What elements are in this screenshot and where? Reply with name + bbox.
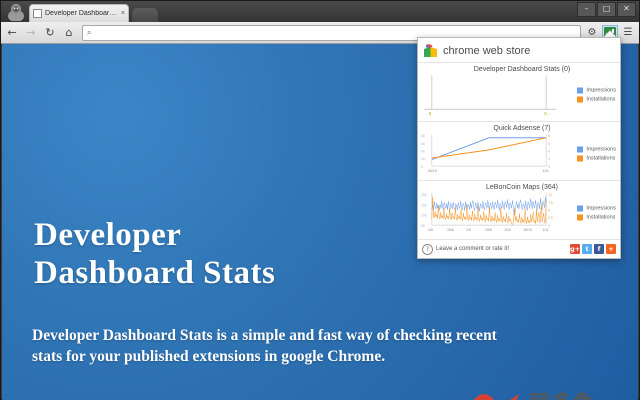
google-plus-icon[interactable]: g+ bbox=[570, 244, 580, 254]
legend-item-impressions: Impressions bbox=[577, 88, 616, 94]
svg-text:0: 0 bbox=[544, 111, 547, 116]
window-minimize-button[interactable]: – bbox=[577, 2, 596, 17]
new-tab-button[interactable] bbox=[132, 8, 158, 22]
window-maximize-button[interactable]: □ bbox=[597, 2, 616, 17]
svg-text:20: 20 bbox=[421, 157, 425, 161]
svg-text:8: 8 bbox=[548, 134, 550, 138]
svg-text:6: 6 bbox=[548, 142, 550, 146]
headline-line-2: Dashboard Stats bbox=[34, 254, 275, 292]
svg-text:1/11: 1/11 bbox=[542, 228, 549, 232]
legend-item-installations: Installations bbox=[577, 215, 616, 221]
tab-title: Developer Dashboard Stats bbox=[45, 10, 119, 17]
svg-text:7.5: 7.5 bbox=[548, 201, 553, 205]
svg-text:10: 10 bbox=[548, 193, 552, 197]
legend-item-impressions: Impressions bbox=[577, 147, 616, 153]
back-icon[interactable]: ← bbox=[4, 25, 20, 41]
legend-label-installations: Installations bbox=[586, 156, 615, 162]
tab-strip: Developer Dashboard Stats × – □ ✕ bbox=[1, 1, 639, 22]
svg-text:80: 80 bbox=[421, 134, 425, 138]
legend-item-impressions: Impressions bbox=[577, 206, 616, 212]
svg-text:1/11: 1/11 bbox=[542, 169, 549, 173]
window-controls: – □ ✕ bbox=[577, 2, 636, 17]
chrome-logo-icon bbox=[5, 2, 27, 21]
chart-body-1: 0 0 Impressions Installations bbox=[420, 73, 618, 117]
rate-text[interactable]: Leave a comment or rate it! bbox=[436, 246, 509, 252]
tab-favicon-icon bbox=[33, 9, 42, 18]
svg-text:1/10: 1/10 bbox=[504, 228, 511, 232]
chart-block-3: LeBonCoin Maps (364) 20015010050107.552.… bbox=[418, 180, 620, 239]
social-buttons: g+ t f + bbox=[570, 244, 616, 254]
svg-text:0: 0 bbox=[421, 165, 423, 169]
page-title: Developer Dashboard Stats bbox=[34, 216, 275, 292]
svg-text:30/10: 30/10 bbox=[428, 169, 437, 173]
search-icon: ⌕ bbox=[87, 28, 91, 38]
chart-plot-3: 20015010050107.552.504/815/81/915/91/101… bbox=[420, 191, 558, 235]
svg-text:60: 60 bbox=[421, 142, 425, 146]
chart-legend-1: Impressions Installations bbox=[577, 88, 616, 103]
screenshot-root: Developer Dashboard Stats × – □ ✕ ← → ↻ … bbox=[0, 0, 640, 400]
twitter-icon[interactable]: t bbox=[582, 244, 592, 254]
svg-text:2.5: 2.5 bbox=[548, 216, 553, 220]
svg-text:15/10: 15/10 bbox=[523, 228, 532, 232]
svg-text:4/8: 4/8 bbox=[428, 228, 433, 232]
chart-body-2: 8060402008642030/101/11 Impressions Inst… bbox=[420, 132, 618, 176]
svg-text:40: 40 bbox=[421, 149, 425, 153]
legend-swatch-impressions bbox=[577, 147, 583, 153]
reload-icon[interactable]: ↻ bbox=[42, 25, 58, 41]
legend-label-installations: Installations bbox=[586, 97, 615, 103]
svg-text:15/8: 15/8 bbox=[447, 228, 454, 232]
svg-text:50: 50 bbox=[421, 224, 425, 228]
legend-swatch-impressions bbox=[577, 88, 583, 94]
legend-item-installations: Installations bbox=[577, 156, 616, 162]
watermark-text: 网多鱼 wduoyu.com bbox=[529, 392, 600, 400]
svg-text:5: 5 bbox=[548, 208, 550, 212]
popup-footer: ? Leave a comment or rate it! g+ t f + bbox=[418, 239, 620, 258]
chart-body-3: 20015010050107.552.504/815/81/915/91/101… bbox=[420, 191, 618, 235]
forward-icon: → bbox=[23, 25, 39, 41]
tab-close-icon[interactable]: × bbox=[121, 10, 125, 17]
legend-label-installations: Installations bbox=[586, 215, 615, 221]
legend-swatch-installations bbox=[577, 97, 583, 103]
chart-title-3: LeBonCoin Maps (364) bbox=[418, 184, 620, 191]
popup-header: chrome web store bbox=[418, 38, 620, 62]
page-description: Developer Dashboard Stats is a simple an… bbox=[32, 325, 502, 367]
chart-block-2: Quick Adsense (7) 8060402008642030/101/1… bbox=[418, 121, 620, 180]
chrome-menu-icon[interactable]: ☰ bbox=[620, 25, 636, 41]
svg-text:100: 100 bbox=[421, 213, 427, 217]
svg-text:0: 0 bbox=[429, 111, 432, 116]
chart-legend-3: Impressions Installations bbox=[577, 206, 616, 221]
legend-label-impressions: Impressions bbox=[586, 206, 616, 212]
chart-plot-1: 0 0 bbox=[420, 73, 558, 117]
browser-window: Developer Dashboard Stats × – □ ✕ ← → ↻ … bbox=[0, 0, 640, 400]
svg-text:200: 200 bbox=[421, 193, 427, 197]
fish-logo-icon bbox=[463, 387, 525, 400]
share-icon[interactable]: + bbox=[606, 244, 616, 254]
svg-text:4: 4 bbox=[548, 149, 550, 153]
legend-item-installations: Installations bbox=[577, 97, 616, 103]
chart-title-1: Developer Dashboard Stats (0) bbox=[418, 66, 620, 73]
browser-tab[interactable]: Developer Dashboard Stats × bbox=[29, 4, 129, 22]
window-close-button[interactable]: ✕ bbox=[617, 2, 636, 17]
headline-line-1: Developer bbox=[34, 216, 275, 254]
svg-text:1/9: 1/9 bbox=[466, 228, 471, 232]
legend-swatch-installations bbox=[577, 215, 583, 221]
extension-popup: chrome web store Developer Dashboard Sta… bbox=[417, 37, 621, 259]
svg-text:15/9: 15/9 bbox=[485, 228, 492, 232]
legend-swatch-installations bbox=[577, 156, 583, 162]
facebook-icon[interactable]: f bbox=[594, 244, 604, 254]
chrome-web-store-bag-icon bbox=[423, 44, 438, 58]
chart-legend-2: Impressions Installations bbox=[577, 147, 616, 162]
watermark-brand: 网多鱼 bbox=[529, 392, 600, 400]
chart-plot-2: 8060402008642030/101/11 bbox=[420, 132, 558, 176]
watermark: 网多鱼 wduoyu.com bbox=[463, 380, 635, 400]
help-icon[interactable]: ? bbox=[422, 244, 433, 255]
popup-store-title: chrome web store bbox=[443, 45, 530, 57]
svg-text:2: 2 bbox=[548, 157, 550, 161]
chart-block-1: Developer Dashboard Stats (0) 0 0 bbox=[418, 62, 620, 121]
home-icon[interactable]: ⌂ bbox=[61, 25, 77, 41]
legend-label-impressions: Impressions bbox=[586, 88, 616, 94]
legend-swatch-impressions bbox=[577, 206, 583, 212]
rate-prompt[interactable]: ? Leave a comment or rate it! bbox=[422, 244, 509, 255]
legend-label-impressions: Impressions bbox=[586, 147, 616, 153]
svg-text:150: 150 bbox=[421, 203, 427, 207]
chart-title-2: Quick Adsense (7) bbox=[418, 125, 620, 132]
